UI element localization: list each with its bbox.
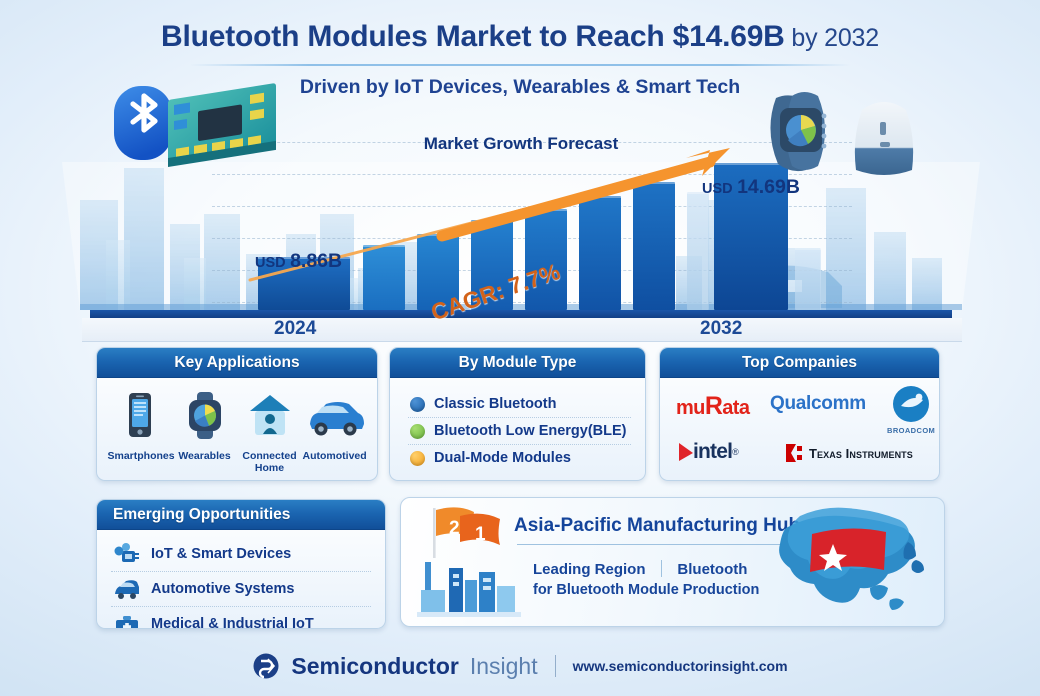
app-item-connected-home[interactable]: ConnectedHome: [238, 391, 302, 474]
intel-logo-mark: ®: [732, 447, 739, 457]
texas-instruments-logo[interactable]: Texas Instruments: [784, 442, 913, 464]
page-title-main: Bluetooth Modules Market to Reach: [161, 20, 673, 53]
value-label-2024-unit: USD: [255, 255, 286, 271]
opportunity-item-automotive[interactable]: Automotive Systems: [111, 572, 371, 607]
card-module-type: By Module Type Classic Bluetooth Bluetoo…: [389, 347, 646, 481]
module-type-item-classic[interactable]: Classic Bluetooth: [408, 391, 631, 418]
apac-sub-separator: [661, 560, 662, 577]
card-emerging-opportunities-header: Emerging Opportunities: [97, 500, 385, 530]
app-item-smartphones[interactable]: Smartphones: [108, 391, 172, 462]
module-type-item-dual-mode[interactable]: Dual-Mode Modules: [408, 445, 631, 471]
car-icon: [305, 391, 365, 441]
page-title-value: $14.69B: [673, 20, 785, 53]
card-module-type-header: By Module Type: [390, 348, 645, 378]
module-type-item-ble[interactable]: Bluetooth Low Energy(BLE): [408, 418, 631, 445]
infographic-canvas: Bluetooth Modules Market to Reach $14.69…: [0, 0, 1040, 696]
flag-back-number: 2: [449, 518, 460, 539]
smartphone-icon: [123, 391, 157, 441]
legend-dot-bluetooth-low-energy: [410, 424, 425, 439]
flag-front-number: 1: [475, 524, 486, 545]
app-item-automotived-label: Automotived: [303, 450, 367, 462]
footer-brand-main: Semiconductor: [291, 653, 458, 680]
page-title-tail: by 2032: [785, 24, 879, 52]
apac-sub-line2: for Bluetooth Module Production: [533, 582, 759, 598]
card-key-applications: Key Applications Smartphones: [96, 347, 378, 481]
broadcom-logo-text: BROADCOM: [887, 426, 935, 435]
factory-city-icon: [413, 550, 525, 622]
ti-mark-icon: [784, 442, 804, 464]
smartwatch-icon: [183, 391, 227, 441]
china-flag-icon: [810, 528, 886, 572]
app-item-wearables[interactable]: Wearables: [173, 391, 237, 462]
opportunity-item-iot[interactable]: IoT & Smart Devices: [111, 537, 371, 572]
murata-logo-text-a: mu: [676, 397, 705, 419]
value-label-2032: USD 14.69B: [702, 176, 800, 199]
qualcomm-logo-text: Qualcomm: [770, 393, 866, 414]
chip-cloud-icon: [113, 543, 141, 565]
module-type-item-classic-label: Classic Bluetooth: [434, 396, 556, 412]
murata-logo-text-b: R: [705, 392, 722, 420]
texas-instruments-logo-text: Texas Instruments: [809, 446, 913, 461]
page-title: Bluetooth Modules Market to Reach $14.69…: [0, 20, 1040, 54]
apac-sub-left: Leading Region: [533, 561, 646, 578]
module-type-item-ble-label: Bluetooth Low Energy(BLE): [434, 423, 627, 439]
card-top-companies: Top Companies muRata Qualcomm BROADCOM: [659, 347, 940, 481]
broadcom-logo[interactable]: BROADCOM: [887, 384, 935, 435]
module-type-item-dual-mode-label: Dual-Mode Modules: [434, 450, 571, 466]
value-label-2024: USD 8.86B: [255, 250, 342, 273]
footer-brand-sub: Insight: [470, 653, 538, 680]
semiconductor-insight-logo-icon: [252, 652, 280, 680]
app-item-wearables-label: Wearables: [173, 450, 237, 462]
legend-dot-classic-bluetooth: [410, 397, 425, 412]
card-top-companies-header: Top Companies: [660, 348, 939, 378]
footer-divider: [555, 655, 556, 677]
murata-logo-text-c: ata: [722, 397, 749, 419]
app-item-connected-home-label: ConnectedHome: [238, 450, 302, 474]
title-divider: [190, 64, 850, 66]
value-label-2032-number: 14.69B: [737, 176, 800, 198]
card-key-applications-header: Key Applications: [97, 348, 377, 378]
qualcomm-logo[interactable]: Qualcomm: [770, 393, 866, 415]
broadcom-mark-icon: [889, 384, 933, 424]
apac-sub-right: Bluetooth: [677, 561, 747, 578]
opportunity-item-medical[interactable]: Medical & Industrial IoT: [111, 607, 371, 629]
panel-apac-hub: 2 1 Asia-Pacific Manufacturing Hub Leadi…: [400, 497, 945, 627]
intel-logo-text: intel: [693, 440, 732, 464]
app-item-smartphones-label: Smartphones: [108, 450, 172, 462]
intel-logo[interactable]: intel ®: [676, 440, 739, 464]
house-icon: [248, 391, 292, 441]
murata-logo[interactable]: muRata: [676, 392, 749, 421]
legend-dot-dual-mode: [410, 451, 425, 466]
medical-case-icon: [113, 613, 141, 629]
opportunity-item-iot-label: IoT & Smart Devices: [151, 546, 291, 562]
opportunity-item-automotive-label: Automotive Systems: [151, 581, 294, 597]
value-label-2024-number: 8.86B: [290, 250, 342, 272]
app-item-automotived[interactable]: Automotived: [303, 391, 367, 462]
opportunity-item-medical-label: Medical & Industrial IoT: [151, 616, 314, 629]
cagr-trend-arrow: [62, 128, 980, 328]
asia-map-icon: [740, 502, 940, 626]
market-growth-chart: Market Growth Forecast 2024 2032 USD 8.8…: [62, 128, 980, 328]
value-label-2032-unit: USD: [702, 181, 733, 197]
car-badge-icon: [113, 578, 141, 600]
card-emerging-opportunities: Emerging Opportunities IoT & Smart Devic…: [96, 499, 386, 629]
footer: Semiconductor Insight www.semiconductori…: [0, 652, 1040, 680]
footer-url[interactable]: www.semiconductorinsight.com: [573, 658, 788, 674]
